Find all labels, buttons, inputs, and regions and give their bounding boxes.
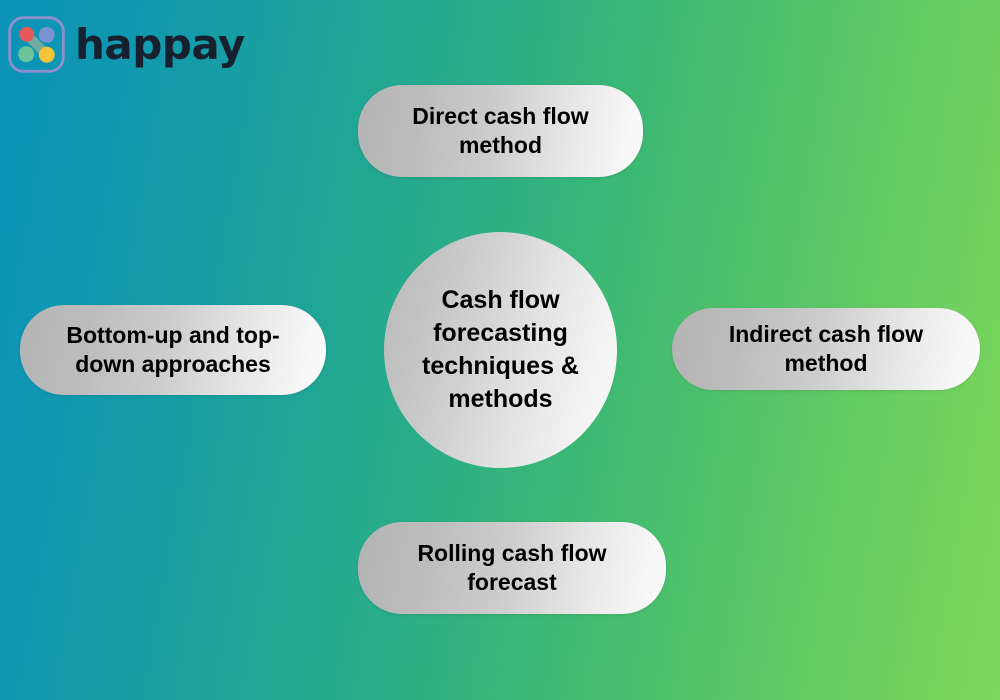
node-rolling-cash-flow-forecast[interactable]: Rolling cash flow forecast (358, 522, 666, 614)
happay-four-dot-logo-icon (8, 16, 65, 73)
node-bottom-up-and-top-down-approaches[interactable]: Bottom-up and top-down approaches (20, 305, 326, 395)
brand-wordmark: happay (75, 24, 245, 66)
node-indirect-cash-flow-method[interactable]: Indirect cash flow method (672, 308, 980, 390)
brand-logo: happay (8, 16, 245, 73)
infographic-canvas: happay Cash flow forecasting techniques … (0, 0, 1000, 700)
center-node-cash-flow-forecasting[interactable]: Cash flow forecasting techniques & metho… (384, 232, 617, 468)
node-direct-cash-flow-method[interactable]: Direct cash flow method (358, 85, 643, 177)
